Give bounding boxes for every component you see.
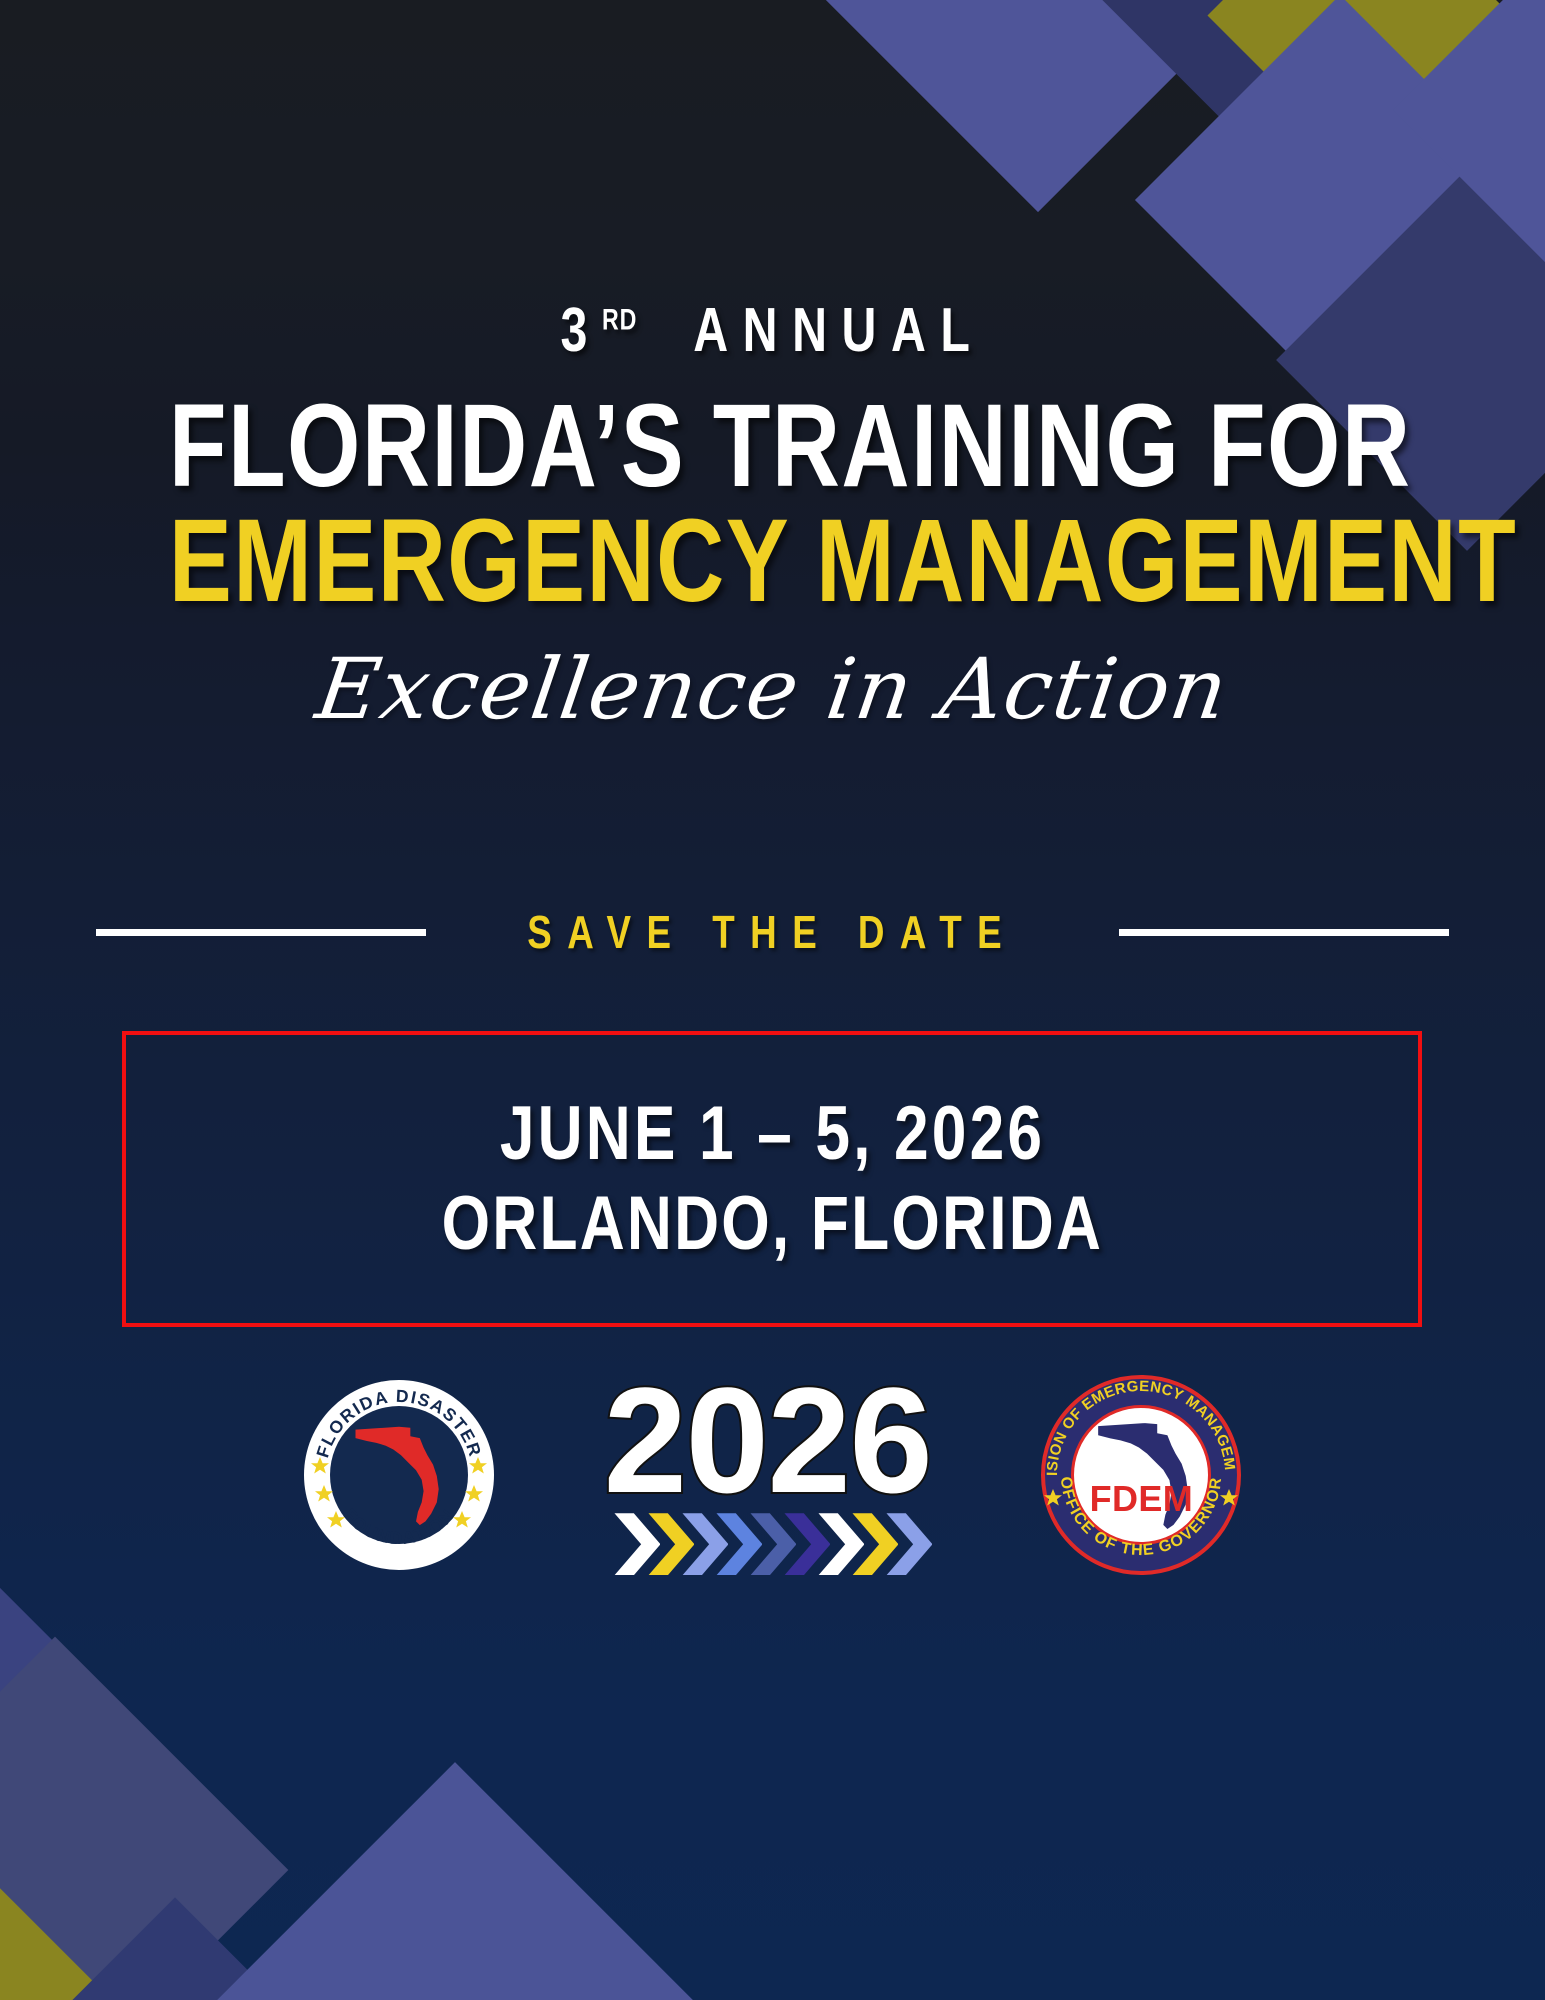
kicker-line: 3RD ANNUAL bbox=[184, 300, 1361, 362]
divider-rule-left bbox=[96, 929, 426, 936]
star-icon bbox=[315, 1485, 333, 1502]
kicker-number: 3 bbox=[561, 296, 602, 365]
star-icon bbox=[469, 1457, 487, 1474]
date-location-box: JUNE 1 – 5, 2026 ORLANDO, FLORIDA bbox=[122, 1031, 1422, 1327]
kicker-ordinal-suffix: RD bbox=[602, 303, 637, 336]
save-the-date-label: SAVE THE DATE bbox=[528, 905, 1018, 959]
star-icon bbox=[311, 1457, 329, 1474]
florida-disaster-foundation-logo: FLORIDA DISASTER FOUNDATION bbox=[304, 1380, 494, 1570]
logo-row: FLORIDA DISASTER FOUNDATION bbox=[0, 1345, 1545, 1605]
star-icon bbox=[1044, 1489, 1062, 1506]
year-label: 2026 bbox=[604, 1369, 932, 1512]
headline-block: 3RD ANNUAL FLORIDA’S TRAINING FOR EMERGE… bbox=[0, 300, 1545, 733]
save-the-date-poster: 3RD ANNUAL FLORIDA’S TRAINING FOR EMERGE… bbox=[0, 0, 1545, 2000]
save-the-date-row: SAVE THE DATE bbox=[0, 905, 1545, 959]
star-icon bbox=[327, 1511, 345, 1528]
kicker-word: ANNUAL bbox=[693, 296, 984, 365]
star-icon bbox=[453, 1511, 471, 1528]
fdem-logo: DIVISION OF EMERGENCY MANAGEMENT OFFICE … bbox=[1041, 1375, 1241, 1575]
florida-state-shape-icon bbox=[351, 1423, 447, 1527]
divider-rule-right bbox=[1119, 929, 1449, 936]
event-location: ORLANDO, FLORIDA bbox=[441, 1186, 1103, 1262]
year-graphic: 2026 bbox=[604, 1369, 932, 1582]
star-icon bbox=[465, 1485, 483, 1502]
page-title-line-2: EMERGENCY MANAGEMENT bbox=[169, 507, 1376, 616]
tagline: Excellence in Action bbox=[0, 645, 1545, 733]
fdem-acronym: FDEM bbox=[1090, 1481, 1193, 1517]
event-dates: JUNE 1 – 5, 2026 bbox=[499, 1096, 1044, 1172]
page-title-line-1: FLORIDA’S TRAINING FOR bbox=[169, 392, 1376, 501]
